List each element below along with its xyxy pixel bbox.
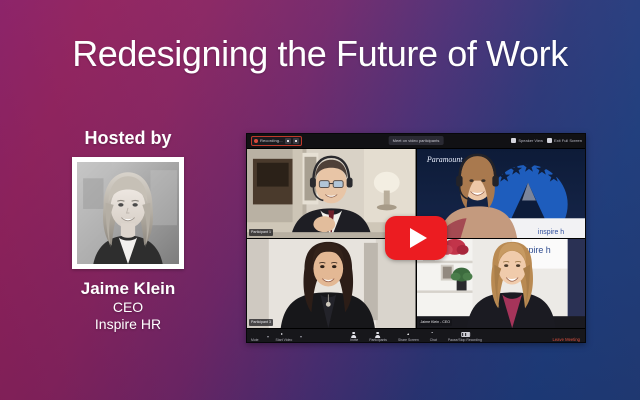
hosted-by-label: Hosted by bbox=[38, 128, 218, 149]
host-block: Hosted by bbox=[38, 128, 218, 334]
host-role: CEO bbox=[38, 299, 218, 317]
mute-label: Mute bbox=[251, 339, 259, 342]
invite-label: Invite bbox=[350, 339, 358, 342]
grid-view-icon bbox=[511, 138, 516, 143]
slide-canvas: Redesigning the Future of Work Hosted by bbox=[0, 0, 640, 400]
zoom-toolbar: Mute Start Video Invite Participants bbox=[247, 328, 585, 343]
recording-toolbar-label: Pause/Stop Recording bbox=[448, 339, 482, 342]
recording-label: Recording... bbox=[260, 139, 283, 143]
video-chevron-up-icon[interactable] bbox=[300, 336, 302, 338]
page-title: Redesigning the Future of Work bbox=[0, 36, 640, 72]
share-screen-label: Share Screen bbox=[398, 339, 419, 342]
invite-person-icon bbox=[351, 332, 358, 338]
toolbar-left-group: Mute Start Video bbox=[251, 332, 302, 342]
participant-name-1: Participant 1 bbox=[249, 229, 273, 236]
zoom-topbar: Recording... Meet on video participants … bbox=[247, 134, 585, 149]
participants-label: Participants bbox=[369, 339, 387, 342]
host-company: Inspire HR bbox=[38, 316, 218, 334]
fullscreen-icon bbox=[547, 138, 552, 143]
stop-recording-icon[interactable] bbox=[293, 138, 299, 144]
start-video-label: Start Video bbox=[276, 339, 293, 342]
mic-chevron-up-icon[interactable] bbox=[267, 336, 269, 338]
share-screen-icon bbox=[405, 332, 412, 338]
play-triangle-icon bbox=[410, 228, 427, 248]
pause-recording-icon bbox=[461, 332, 468, 338]
toolbar-center-group: Invite Participants Share Screen Chat Pa… bbox=[350, 332, 482, 342]
leave-meeting-button[interactable]: Leave Meeting bbox=[553, 328, 580, 343]
camera-icon bbox=[280, 332, 287, 338]
zoom-meeting-window[interactable]: Recording... Meet on video participants … bbox=[246, 133, 586, 343]
pause-recording-icon[interactable] bbox=[285, 138, 291, 144]
participants-button[interactable]: Participants bbox=[369, 332, 387, 342]
chat-label: Chat bbox=[430, 339, 437, 342]
participant-name-4: Jaime Klein - CEO bbox=[419, 319, 453, 326]
meeting-info-label: Meet on video participants bbox=[393, 139, 440, 143]
participant-name-3: Participant 3 bbox=[249, 319, 273, 326]
topbar-right-controls: Speaker View Exit Full Screen bbox=[511, 136, 582, 145]
svg-text:inspire h: inspire h bbox=[537, 229, 563, 236]
leave-meeting-label: Leave Meeting bbox=[553, 337, 580, 342]
chat-bubble-icon bbox=[430, 332, 437, 338]
pause-stop-recording-button[interactable]: Pause/Stop Recording bbox=[448, 332, 482, 342]
share-screen-button[interactable]: Share Screen bbox=[398, 332, 419, 342]
exit-fullscreen-label: Exit Full Screen bbox=[554, 139, 582, 143]
youtube-play-button[interactable] bbox=[385, 216, 447, 260]
mute-button[interactable]: Mute bbox=[251, 332, 259, 342]
recording-dot-icon bbox=[254, 139, 258, 143]
meeting-info-pill[interactable]: Meet on video participants bbox=[389, 136, 444, 145]
participants-icon bbox=[375, 332, 382, 338]
exit-fullscreen-button[interactable]: Exit Full Screen bbox=[547, 138, 582, 143]
invite-button[interactable]: Invite bbox=[350, 332, 358, 342]
chat-button[interactable]: Chat bbox=[430, 332, 437, 342]
speaker-view-label: Speaker View bbox=[518, 139, 543, 143]
microphone-icon bbox=[251, 332, 258, 338]
start-video-button[interactable]: Start Video bbox=[276, 332, 293, 342]
avatar bbox=[77, 162, 179, 264]
host-photo-frame bbox=[72, 157, 184, 269]
svg-text:Paramount: Paramount bbox=[425, 155, 462, 164]
headshot-illustration bbox=[77, 162, 179, 264]
host-name: Jaime Klein bbox=[38, 279, 218, 299]
recording-indicator[interactable]: Recording... bbox=[251, 136, 302, 146]
speaker-view-button[interactable]: Speaker View bbox=[511, 138, 543, 143]
